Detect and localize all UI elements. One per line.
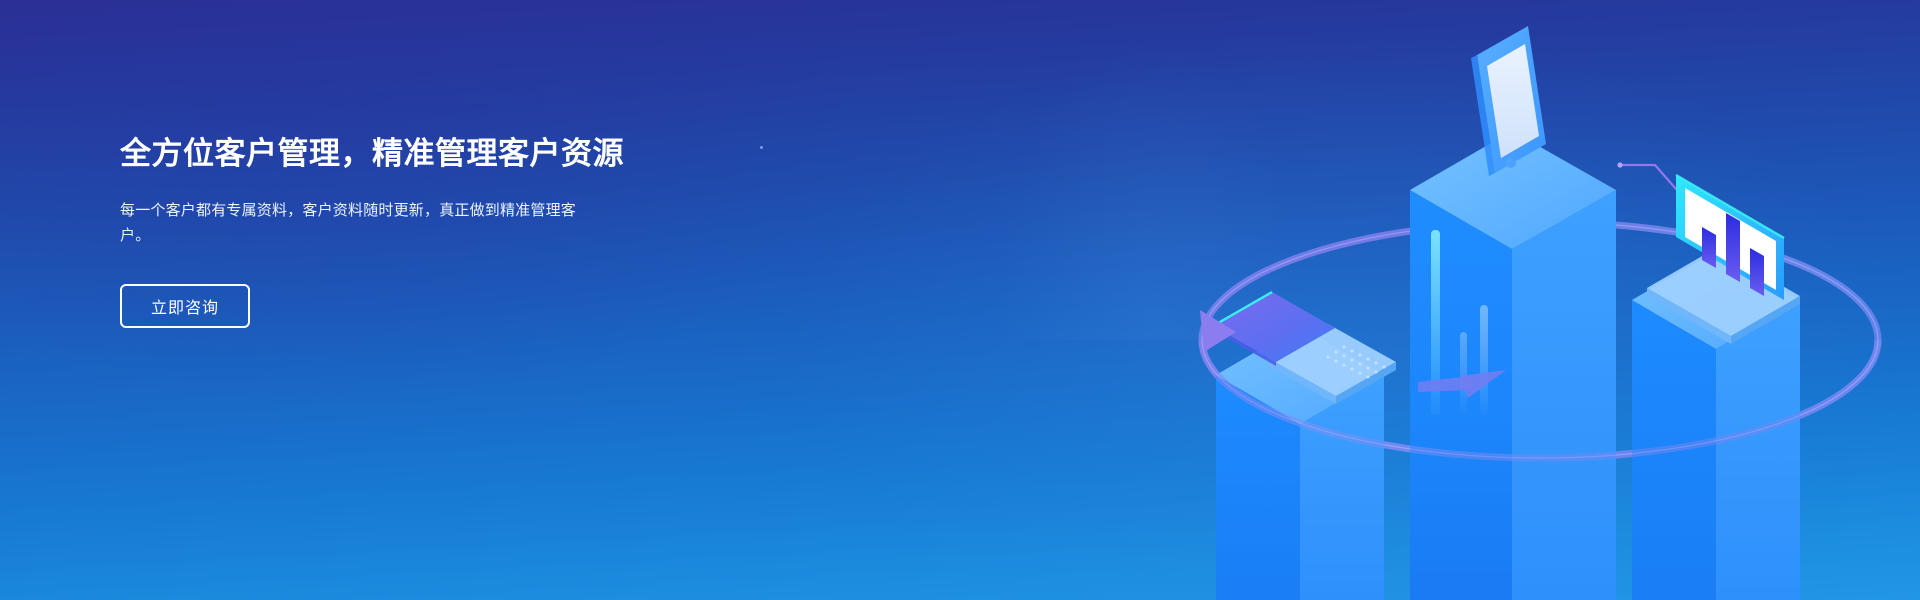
background-speck bbox=[760, 146, 763, 149]
right-pillar-group bbox=[1632, 175, 1800, 600]
right-pillar-side bbox=[1716, 300, 1800, 600]
pillar-glow-bar-2 bbox=[1480, 305, 1488, 415]
center-pillar-side bbox=[1512, 190, 1616, 600]
pillar-glow-bar-3 bbox=[1460, 332, 1467, 414]
tablet-home-button bbox=[1506, 158, 1516, 168]
hero-subcopy: 每一个客户都有专属资料，客户资料随时更新，真正做到精准管理客户。 bbox=[120, 198, 604, 248]
isometric-data-illustration bbox=[1160, 0, 1920, 600]
hero-banner: 全方位客户管理，精准管理客户资源 每一个客户都有专属资料，客户资料随时更新，真正… bbox=[0, 0, 1920, 600]
chart-bar-3 bbox=[1750, 248, 1764, 296]
hero-copy-block: 全方位客户管理，精准管理客户资源 每一个客户都有专属资料，客户资料随时更新，真正… bbox=[120, 132, 740, 328]
chart-bar-2 bbox=[1726, 213, 1740, 282]
consult-now-button[interactable]: 立即咨询 bbox=[120, 284, 250, 328]
left-pillar-group bbox=[1213, 292, 1396, 600]
hero-illustration bbox=[1160, 0, 1920, 600]
page-title: 全方位客户管理，精准管理客户资源 bbox=[120, 132, 740, 176]
center-pillar-group bbox=[1410, 26, 1616, 600]
